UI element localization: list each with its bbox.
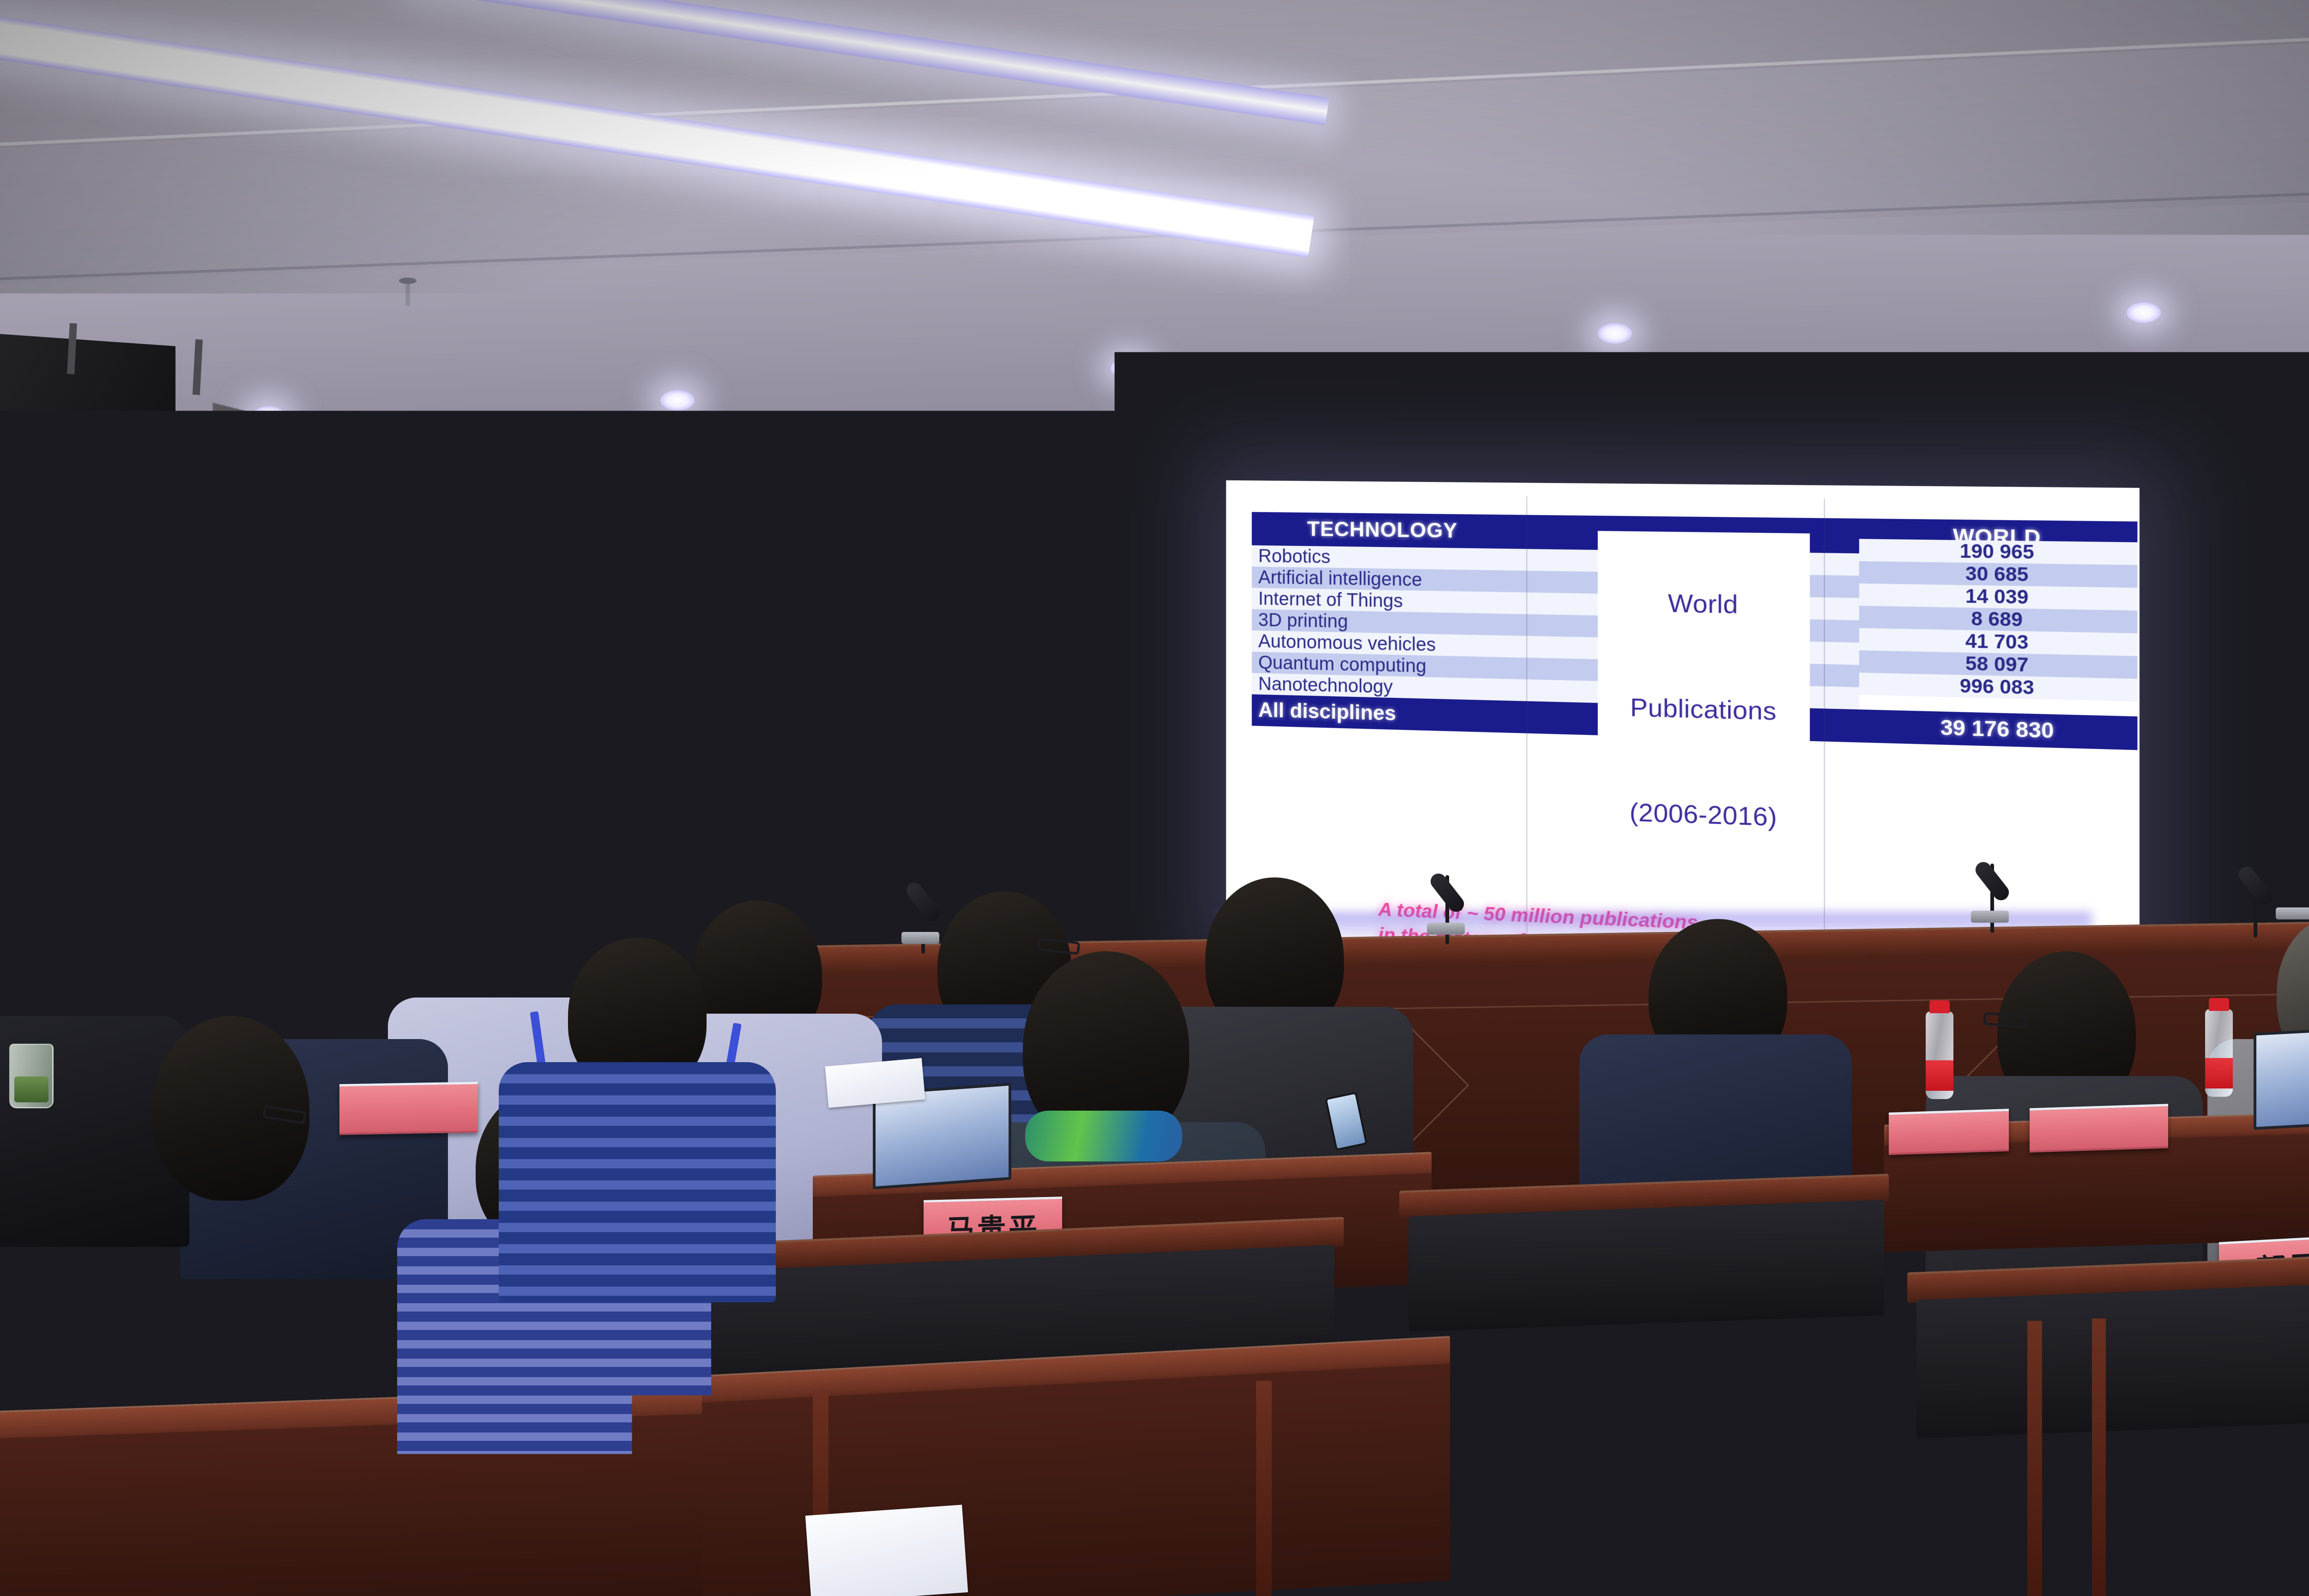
- overlay-line-world: World: [1668, 589, 1738, 620]
- nameplate-occluded-right: [2030, 1104, 2168, 1152]
- speaker-brow-right: [381, 692, 401, 696]
- projector-tile-seam: [1526, 496, 1527, 949]
- bottle-label: [2205, 1058, 2233, 1088]
- ceiling-downlight: [660, 390, 695, 411]
- cell-world: 190 965: [1859, 539, 2138, 565]
- projection-screen: TECHNOLOGY WORLD Robotics 190 965 Artifi…: [1226, 480, 2140, 983]
- foreground-person-fleece-jacket: [125, 1335, 753, 1596]
- bottle-label: [1926, 1060, 1953, 1091]
- header-technology: TECHNOLOGY: [1252, 512, 1515, 549]
- mic-base: [1427, 923, 1465, 935]
- paper-sheet: [805, 1505, 968, 1596]
- speaker-ear-left: [323, 702, 339, 728]
- speaker-head-highlight: [351, 671, 390, 689]
- green-scarf: [1025, 1111, 1182, 1161]
- speaker-brow-left: [342, 692, 362, 696]
- ceiling-downlight: [1598, 323, 1632, 344]
- overlay-line-years: (2006-2016): [1629, 798, 1777, 832]
- speaker-eye-right: [381, 700, 399, 706]
- chair-leg: [1256, 1381, 1272, 1596]
- projector-tile-seam: [1824, 499, 1825, 962]
- paper-document: [825, 1058, 925, 1108]
- nameplate-occluded-left: [1889, 1109, 2009, 1155]
- overlay-line-publications: Publications: [1630, 693, 1777, 726]
- water-bottle[interactable]: [2205, 1009, 2233, 1097]
- chair-seat-back: [1916, 1282, 2309, 1439]
- laptop-open[interactable]: [2254, 1027, 2309, 1130]
- desk-microphone[interactable]: [2254, 868, 2257, 937]
- water-bottle[interactable]: [1926, 1011, 1953, 1099]
- speaker-nose: [365, 704, 384, 718]
- lecture-hall-photo: TECHNOLOGY WORLD Robotics 190 965 Artifi…: [0, 0, 2309, 1596]
- chair-seat-back: [1408, 1200, 1884, 1332]
- ceiling-downlight: [1111, 358, 1145, 378]
- cell-total-world: 39 176 830: [1859, 709, 2138, 750]
- ceiling-downlight: [2127, 302, 2161, 323]
- cell-total-label: All disciplines: [1252, 694, 1515, 733]
- chair-leg: [2027, 1321, 2042, 1596]
- mic-base: [1971, 911, 2009, 923]
- mic-base: [2276, 907, 2309, 919]
- tea-glass: [9, 1044, 54, 1108]
- chair-leg: [2092, 1318, 2106, 1596]
- mic-base: [901, 932, 939, 944]
- speaker-ear-right: [401, 702, 417, 728]
- speaker-eye-left: [343, 700, 360, 706]
- slide-title-overlay: World Publications (2006-2016): [1598, 531, 1810, 906]
- sprinkler-head: [405, 282, 410, 306]
- slide-content: TECHNOLOGY WORLD Robotics 190 965 Artifi…: [1239, 493, 2132, 975]
- ceiling-speaker-box: [0, 332, 175, 498]
